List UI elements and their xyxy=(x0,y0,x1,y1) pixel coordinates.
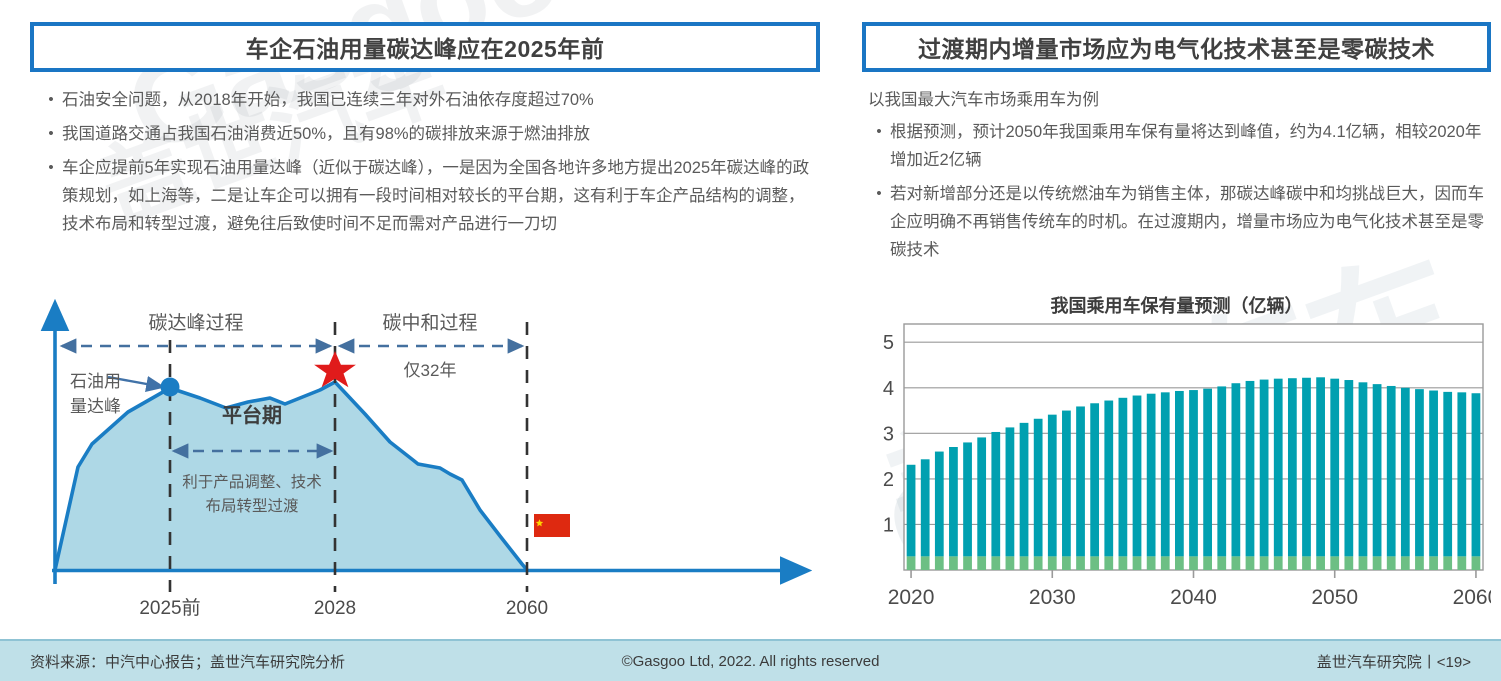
bar-segment xyxy=(1302,556,1311,570)
bar-segment xyxy=(1401,388,1410,557)
bar-segment xyxy=(1119,556,1128,570)
bar-segment xyxy=(1048,556,1057,570)
passenger-vehicle-stock-chart: 我国乘用车保有量预测（亿辆） 1234520202030204020502060 xyxy=(862,292,1491,622)
list-item: • 我国道路交通占我国石油消费近50%，且有98%的碳排放来源于燃油排放 xyxy=(40,120,820,148)
footer-copyright: ©Gasgoo Ltd, 2022. All rights reserved xyxy=(0,653,1501,670)
bar-segment xyxy=(1330,379,1339,557)
bar-segment xyxy=(1006,427,1015,556)
bullet-dot-icon: • xyxy=(868,118,890,174)
bar-segment xyxy=(1330,556,1339,570)
bar-segment xyxy=(1147,556,1156,570)
bar-segment xyxy=(1175,391,1184,556)
bar-segment xyxy=(1062,556,1071,570)
bar-segment xyxy=(1429,391,1438,557)
bar-segment xyxy=(1429,556,1438,570)
bar-segment xyxy=(1133,556,1142,570)
x-tick-2060: 2060 xyxy=(506,598,548,619)
bullet-text: 石油安全问题，从2018年开始，我国已连续三年对外石油依存度超过70% xyxy=(62,86,820,114)
bar-segment xyxy=(1076,406,1085,556)
bar-segment xyxy=(1246,556,1255,570)
bar-segment xyxy=(1373,384,1382,556)
bar-segment xyxy=(1344,380,1353,556)
bar-segment xyxy=(1203,389,1212,557)
bar-segment xyxy=(963,556,972,570)
bullet-dot-icon: • xyxy=(40,154,62,238)
y-tick-label: 5 xyxy=(883,332,894,354)
only-32-years-label: 仅32年 xyxy=(404,361,457,380)
bar-segment xyxy=(949,556,958,570)
bar-segment xyxy=(1457,556,1466,570)
bar-segment xyxy=(1161,556,1170,570)
plateau-note-line1: 利于产品调整、技术 xyxy=(182,473,322,491)
x-tick-2028: 2028 xyxy=(314,598,356,619)
x-tick-label: 2060 xyxy=(1453,586,1491,609)
bar-segment xyxy=(1006,556,1015,570)
bar-segment xyxy=(1020,556,1029,570)
oil-peak-label-line2: 量达峰 xyxy=(70,397,121,416)
bullet-dot-icon: • xyxy=(868,180,890,264)
oil-peak-label-line1: 石油用 xyxy=(70,372,121,391)
bar-segment xyxy=(991,432,1000,556)
bar-segment xyxy=(1443,556,1452,570)
footer-page: 盖世汽车研究院丨<19> xyxy=(1317,651,1471,672)
x-tick-2025: 2025前 xyxy=(139,597,200,619)
list-item: • 若对新增部分还是以传统燃油车为销售主体，那碳达峰碳中和均挑战巨大，因而车企应… xyxy=(868,180,1488,264)
bar-segment xyxy=(1260,380,1269,557)
bar-segment xyxy=(935,452,944,557)
bar-segment xyxy=(1472,556,1481,570)
bar-segment xyxy=(1260,556,1269,570)
bar-segment xyxy=(1359,556,1368,570)
carbon-peak-process-label: 碳达峰过程 xyxy=(148,312,243,334)
x-tick-label: 2040 xyxy=(1170,586,1217,609)
bar-segment xyxy=(1373,556,1382,570)
right-intro-text: 以我国最大汽车市场乘用车为例 xyxy=(868,86,1488,114)
bar-segment xyxy=(921,459,930,556)
bar-segment xyxy=(1344,556,1353,570)
bar-segment xyxy=(1090,403,1099,556)
slide-root: 盖世汽车 Gasgoo 盖世汽车 Gasgoo 车企石油用量碳达峰应在2025年… xyxy=(0,0,1501,681)
bar-segment xyxy=(1387,556,1396,570)
bar-segment xyxy=(1401,556,1410,570)
y-tick-label: 3 xyxy=(883,423,894,445)
chart-title: 我国乘用车保有量预测（亿辆） xyxy=(862,292,1491,318)
bar-segment xyxy=(1034,419,1043,557)
bar-segment xyxy=(1076,556,1085,570)
oil-usage-peak-diagram: 碳达峰过程 碳中和过程 仅32年 石油用 量达峰 平台期 利于产品调整、技术 布… xyxy=(30,292,830,622)
left-panel-title-box: 车企石油用量碳达峰应在2025年前 xyxy=(30,22,820,72)
bar-segment xyxy=(1034,556,1043,570)
plateau-label: 平台期 xyxy=(222,403,282,427)
bar-segment xyxy=(1217,556,1226,570)
bar-segment xyxy=(1274,379,1283,557)
bar-segment xyxy=(977,437,986,556)
bar-segment xyxy=(1316,556,1325,570)
x-tick-label: 2020 xyxy=(888,586,935,609)
bar-segment xyxy=(1387,386,1396,556)
bar-segment xyxy=(1189,390,1198,556)
slide-footer: 资料来源：中汽中心报告；盖世汽车研究院分析 ©Gasgoo Ltd, 2022.… xyxy=(0,641,1501,681)
diagram-svg: 碳达峰过程 碳中和过程 仅32年 石油用 量达峰 平台期 利于产品调整、技术 布… xyxy=(30,292,830,622)
bar-segment xyxy=(977,556,986,570)
bar-segment xyxy=(1133,396,1142,557)
bar-segment xyxy=(1274,556,1283,570)
list-item: • 根据预测，预计2050年我国乘用车保有量将达到峰值，约为4.1亿辆，相较20… xyxy=(868,118,1488,174)
bar-segment xyxy=(1302,378,1311,557)
bar-segment xyxy=(1175,556,1184,570)
y-tick-label: 1 xyxy=(883,514,894,536)
x-tick-label: 2050 xyxy=(1311,586,1358,609)
bar-segment xyxy=(1359,382,1368,556)
bar-segment xyxy=(1246,381,1255,556)
bar-segment xyxy=(1231,556,1240,570)
bar-segment xyxy=(1316,377,1325,556)
bar-segment xyxy=(1104,556,1113,570)
bullet-text: 我国道路交通占我国石油消费近50%，且有98%的碳排放来源于燃油排放 xyxy=(62,120,820,148)
bar-segment xyxy=(949,447,958,556)
right-panel-title-box: 过渡期内增量市场应为电气化技术甚至是零碳技术 xyxy=(862,22,1491,72)
bar-segment xyxy=(1415,556,1424,570)
bar-segment xyxy=(1288,556,1297,570)
bullet-text: 若对新增部分还是以传统燃油车为销售主体，那碳达峰碳中和均挑战巨大，因而车企应明确… xyxy=(890,180,1488,264)
bar-segment xyxy=(1472,393,1481,556)
bullet-dot-icon: • xyxy=(40,86,62,114)
bar-segment xyxy=(1062,411,1071,557)
bullet-text: 根据预测，预计2050年我国乘用车保有量将达到峰值，约为4.1亿辆，相较2020… xyxy=(890,118,1488,174)
carbon-neutral-process-label: 碳中和过程 xyxy=(382,312,477,334)
y-tick-label: 2 xyxy=(883,469,894,491)
bar-segment xyxy=(1104,401,1113,557)
list-item: • 车企应提前5年实现石油用量达峰（近似于碳达峰），一是因为全国各地许多地方提出… xyxy=(40,154,820,238)
china-flag-icon xyxy=(534,514,570,537)
bar-segment xyxy=(1443,392,1452,556)
bar-segment xyxy=(907,556,916,570)
bar-segment xyxy=(1217,386,1226,556)
bar-segment xyxy=(1090,556,1099,570)
chart-svg: 1234520202030204020502060 xyxy=(862,292,1491,622)
plateau-note-line2: 布局转型过渡 xyxy=(205,497,298,515)
left-bullet-list: • 石油安全问题，从2018年开始，我国已连续三年对外石油依存度超过70% • … xyxy=(40,86,820,244)
bar-segment xyxy=(1203,556,1212,570)
bar-segment xyxy=(1231,383,1240,556)
bar-segment xyxy=(907,465,916,557)
right-panel-title: 过渡期内增量市场应为电气化技术甚至是零碳技术 xyxy=(918,30,1435,64)
bar-segment xyxy=(1020,423,1029,556)
bar-segment xyxy=(1415,389,1424,556)
left-panel-title: 车企石油用量碳达峰应在2025年前 xyxy=(246,30,605,64)
bar-segment xyxy=(921,556,930,570)
bar-segment xyxy=(991,556,1000,570)
oil-peak-dot-marker xyxy=(161,378,180,397)
bar-segment xyxy=(1288,378,1297,556)
bar-segment xyxy=(1189,556,1198,570)
x-tick-label: 2030 xyxy=(1029,586,1076,609)
bar-segment xyxy=(1048,415,1057,557)
bar-segment xyxy=(1161,392,1170,556)
bar-segment xyxy=(1457,392,1466,556)
list-item: • 石油安全问题，从2018年开始，我国已连续三年对外石油依存度超过70% xyxy=(40,86,820,114)
bullet-dot-icon: • xyxy=(40,120,62,148)
bullet-text: 车企应提前5年实现石油用量达峰（近似于碳达峰），一是因为全国各地许多地方提出20… xyxy=(62,154,820,238)
bar-segment xyxy=(1119,398,1128,557)
bar-segment xyxy=(963,442,972,556)
bar-segment xyxy=(1147,394,1156,557)
bar-segment xyxy=(935,556,944,570)
y-tick-label: 4 xyxy=(883,378,894,400)
right-bullet-list: 以我国最大汽车市场乘用车为例 • 根据预测，预计2050年我国乘用车保有量将达到… xyxy=(868,86,1488,270)
